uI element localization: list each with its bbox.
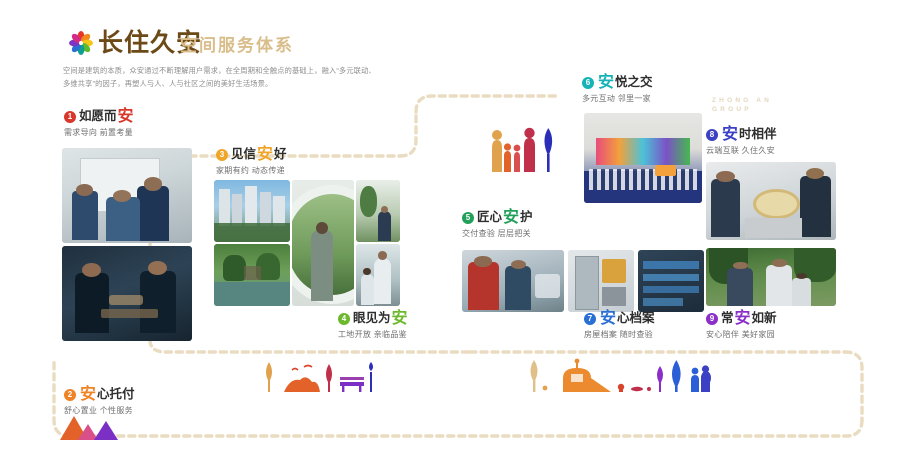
infographic-canvas: 长住久安 空间服务体系 空间是建筑的本质，众安通过不断理解用户需求，在全周期和全…	[0, 0, 900, 465]
step-title-an-6: 安	[597, 74, 615, 91]
step-title-prefix-1: 如愿而	[79, 109, 117, 123]
photo-family-child	[356, 244, 400, 306]
step-number-5: 5	[462, 212, 474, 224]
step-number-8: 8	[706, 129, 718, 141]
photo-handshake-office	[62, 246, 192, 341]
step-title-6: 6安悦之交	[582, 74, 653, 91]
photo-inspection-worker	[462, 250, 564, 312]
brand-subtitle: 空间服务体系	[180, 34, 294, 58]
step-number-3: 3	[216, 149, 228, 161]
step-title-prefix-4: 眼见为	[353, 311, 391, 325]
playground-people-silhouette-icon	[515, 358, 715, 392]
step-number-9: 9	[706, 313, 718, 325]
step-title-an-8: 安	[721, 126, 739, 143]
step-block-8: 8安时相伴 云端互联 久住久安	[706, 126, 777, 157]
step-title-an-3: 安	[256, 146, 274, 163]
photo-consult-whiteboard	[62, 148, 192, 243]
pinwheel-flower-logo-icon	[68, 30, 94, 56]
step-block-3: 3见信安好 家期有约 动态传递	[216, 146, 287, 177]
step-number-6: 6	[582, 77, 594, 89]
intro-paragraph: 空间是建筑的本质，众安通过不断理解用户需求，在全周期和全触点的基础上，融入“多元…	[63, 64, 383, 90]
step-title-suffix-8: 时相伴	[739, 127, 777, 141]
step-sub-7: 房屋档案 随时查验	[584, 329, 655, 341]
step-number-7: 7	[584, 313, 596, 325]
step-block-9: 9常安如新 安心陪伴 美好家园	[706, 310, 777, 341]
step-title-an-5: 安	[502, 209, 520, 226]
step-title-prefix-3: 见信	[231, 147, 256, 161]
step-title-suffix-9: 如新	[752, 311, 777, 325]
photo-residential-towers	[214, 180, 290, 242]
step-sub-4: 工地开放 亲临品鉴	[338, 329, 409, 341]
step-sub-1: 需求导向 前置考量	[64, 127, 135, 139]
step-number-4: 4	[338, 313, 350, 325]
step-block-5: 5匠心安护 交付查验 层层把关	[462, 209, 533, 240]
step-block-6: 6安悦之交 多元互动 邻里一家	[582, 74, 653, 105]
step-title-8: 8安时相伴	[706, 126, 777, 143]
shrub-silhouette-icon	[700, 366, 712, 392]
step-title-suffix-3: 好	[274, 147, 287, 161]
park-bench-lamp-silhouette-icon	[256, 360, 384, 392]
step-number-2: 2	[64, 389, 76, 401]
step-block-7: 7安心档案 房屋档案 随时查验	[584, 310, 655, 341]
step-block-4: 4眼见为安 工地开放 亲临品鉴	[338, 310, 409, 341]
step-number-1: 1	[64, 111, 76, 123]
family-group-silhouette-icon	[484, 118, 560, 172]
watermark-line-1: ZHONG AN	[712, 96, 772, 105]
step-title-suffix-7: 心档案	[617, 311, 655, 325]
step-block-1: 1如愿而安 需求导向 前置考量	[64, 108, 135, 139]
photo-utility-cabinet	[568, 250, 634, 312]
step-sub-9: 安心陪伴 美好家园	[706, 329, 777, 341]
step-title-an-7: 安	[599, 310, 617, 327]
step-sub-6: 多元互动 邻里一家	[582, 93, 653, 105]
step-title-suffix-2: 心托付	[97, 387, 135, 401]
step-sub-5: 交付查验 层层把关	[462, 228, 533, 240]
step-title-an-1: 安	[117, 108, 135, 125]
photo-garden-service	[706, 248, 836, 306]
step-sub-8: 云端互联 久住久安	[706, 145, 777, 157]
step-title-2: 2安心托付	[64, 386, 135, 403]
step-title-an-2: 安	[79, 386, 97, 403]
photo-visitors-greenery	[356, 180, 400, 242]
step-title-prefix-9: 常	[721, 311, 734, 325]
step-title-suffix-6: 悦之交	[615, 75, 653, 89]
step-title-an-4: 安	[391, 310, 409, 327]
step-title-4: 4眼见为安	[338, 310, 409, 327]
step-title-9: 9常安如新	[706, 310, 777, 327]
photo-archive-shelves	[638, 250, 704, 312]
photo-service-desk	[706, 162, 836, 240]
photo-garden-pavilion	[214, 244, 290, 306]
step-title-7: 7安心档案	[584, 310, 655, 327]
step-sub-3: 家期有约 动态传递	[216, 165, 287, 177]
step-block-2: 2安心托付 舒心置业 个性服务	[64, 386, 135, 417]
step-title-1: 1如愿而安	[64, 108, 135, 125]
photo-community-event	[584, 113, 702, 203]
step-title-5: 5匠心安护	[462, 209, 533, 226]
step-title-an-9: 安	[734, 310, 752, 327]
step-title-3: 3见信安好	[216, 146, 287, 163]
photo-moon-gate-walk	[292, 180, 354, 306]
step-title-prefix-5: 匠心	[477, 210, 502, 224]
watermark-line-2: GROUP	[712, 105, 772, 114]
zhongan-group-watermark: ZHONG AN GROUP	[712, 96, 772, 114]
step-title-suffix-5: 护	[520, 210, 533, 224]
step-sub-2: 舒心置业 个性服务	[64, 405, 135, 417]
